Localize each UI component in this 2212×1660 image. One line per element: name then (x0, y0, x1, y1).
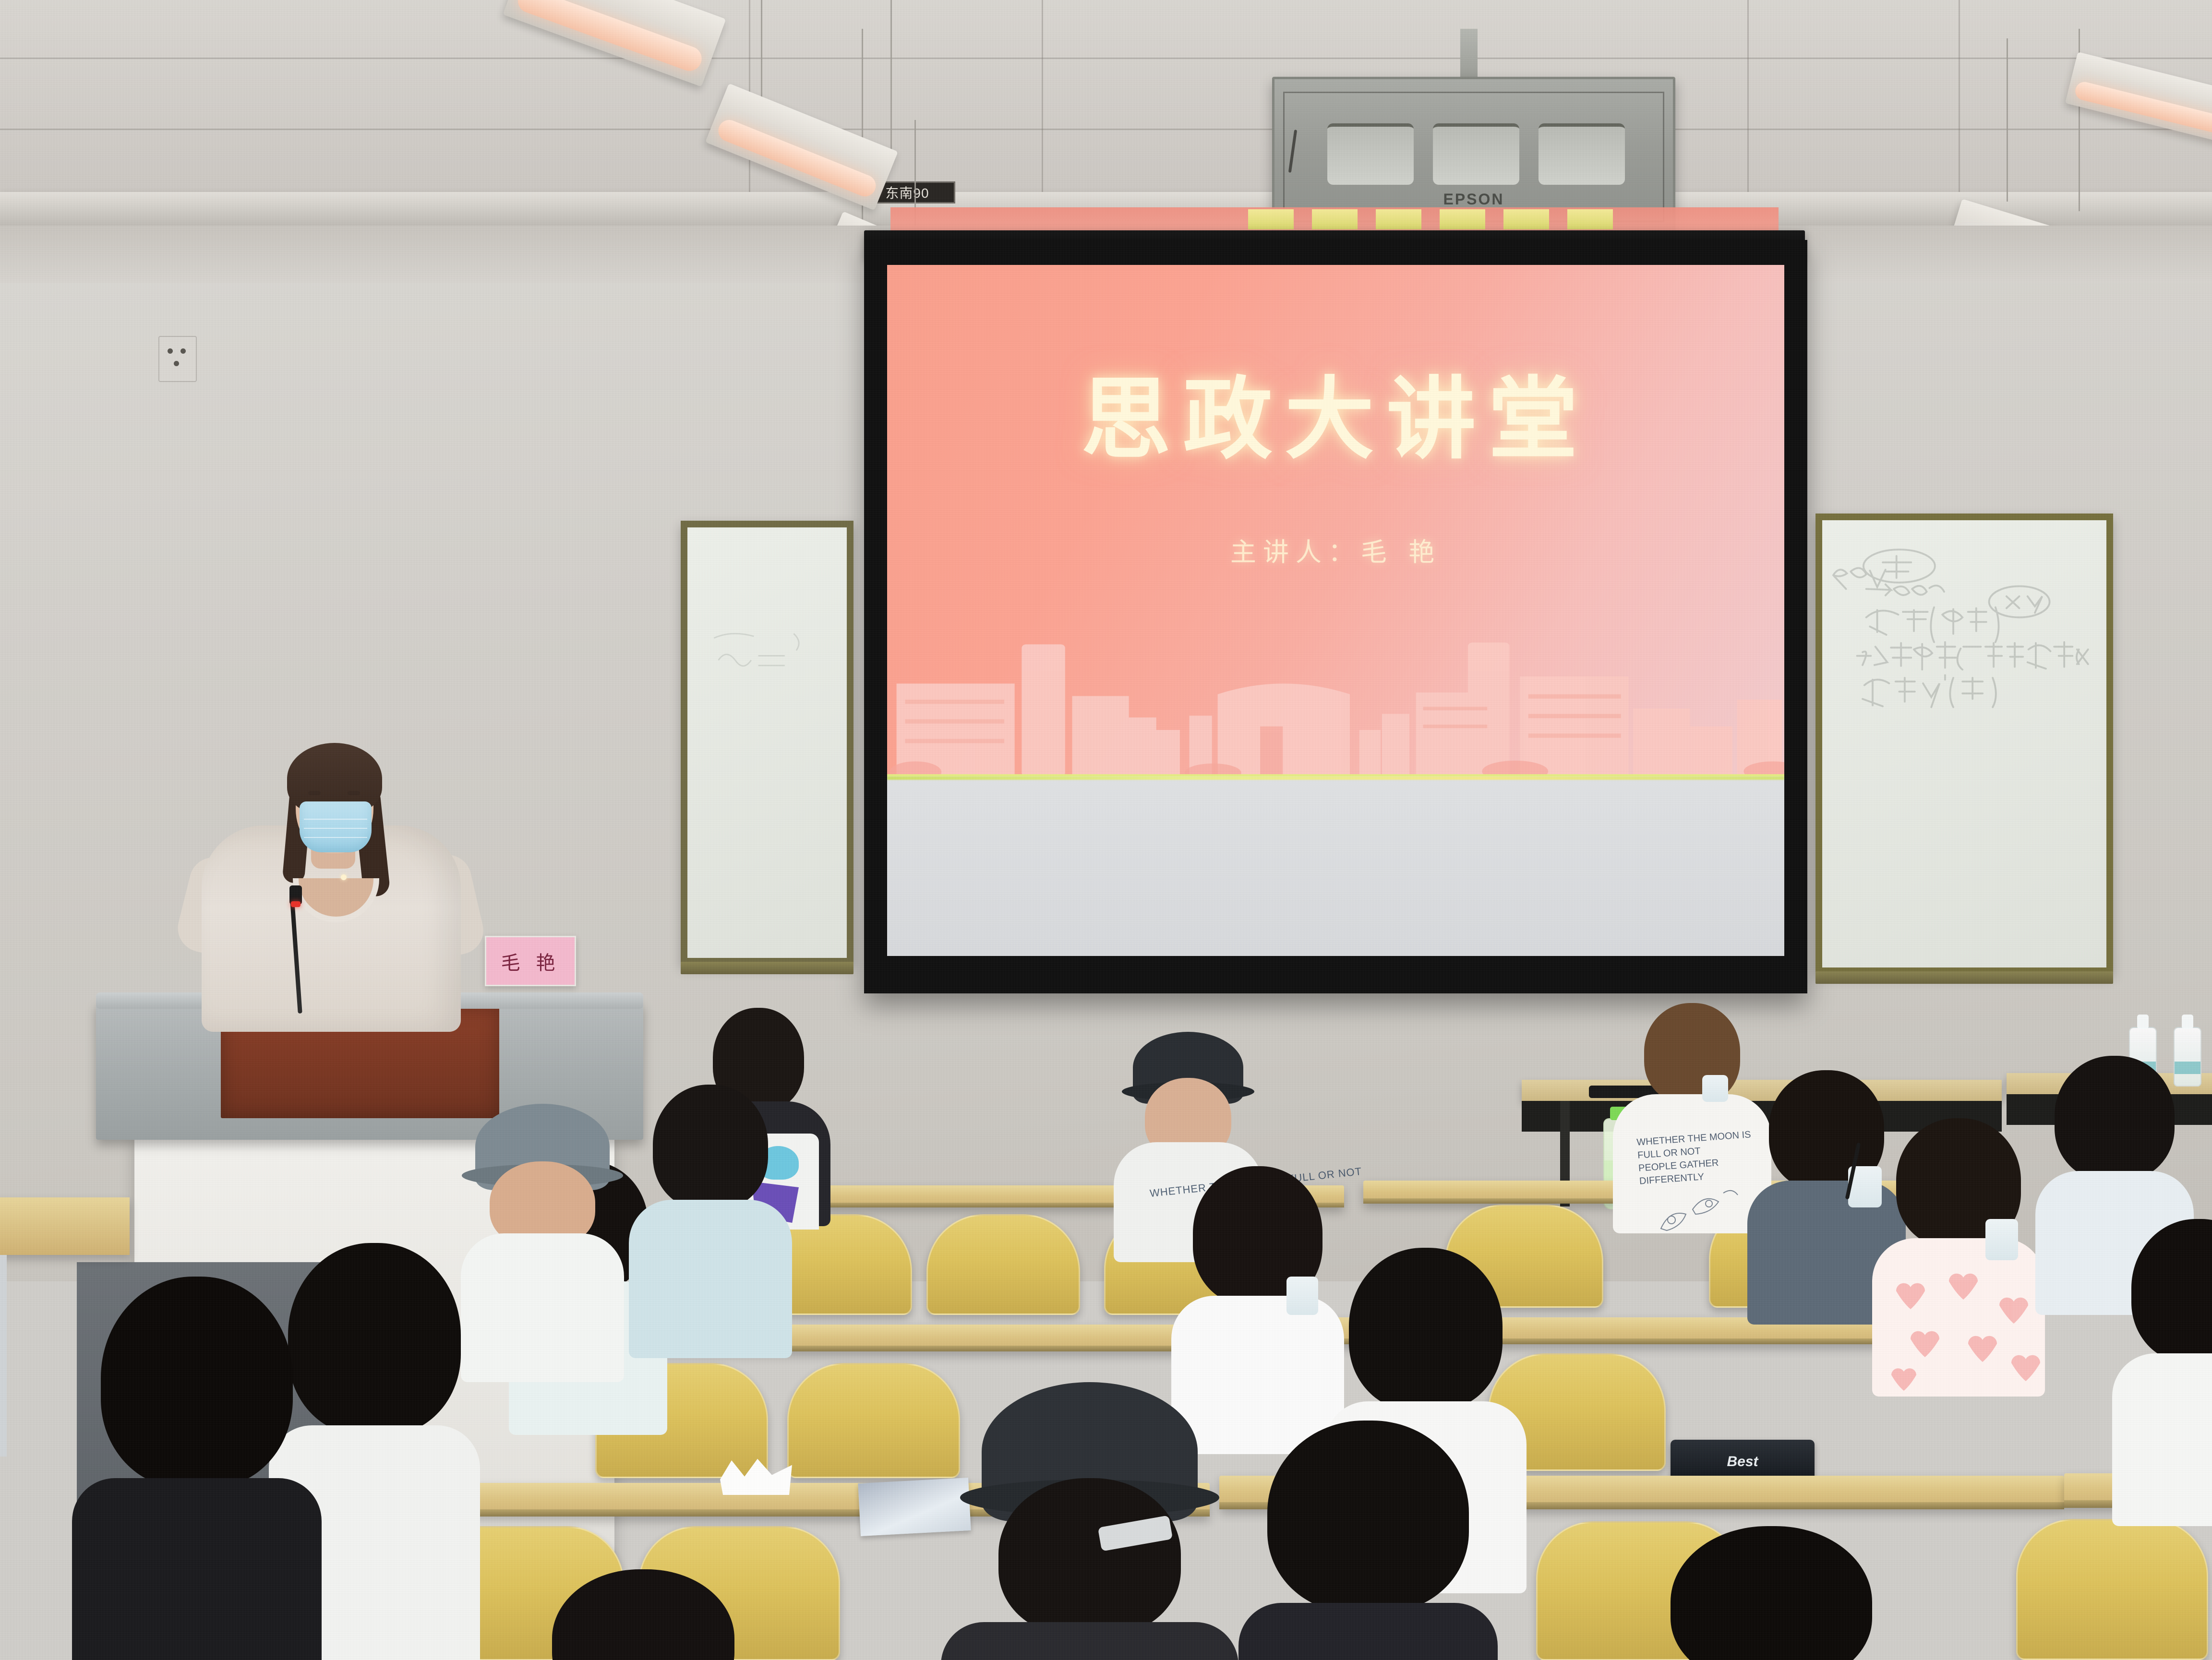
student-head (552, 1569, 734, 1660)
microphone-indicator-led (291, 901, 301, 907)
student-head (101, 1277, 293, 1488)
wall-power-outlet[interactable] (158, 336, 197, 382)
sanitizer-pump[interactable] (2137, 1015, 2149, 1029)
side-table-leg (0, 1255, 7, 1457)
whiteboard-left-tray (681, 962, 854, 974)
ceiling-tile-line (1959, 0, 1960, 206)
student-head (998, 1478, 1181, 1636)
classroom-scene: 东南90 EPSON (0, 0, 2212, 1660)
whiteboard-right-surface (1822, 520, 2106, 967)
chair[interactable] (787, 1363, 960, 1478)
projector-lens-slot (1433, 123, 1519, 185)
student (461, 1104, 624, 1373)
projector-brand-label: EPSON (1443, 191, 1504, 208)
whiteboard-right-tray (1815, 971, 2113, 984)
student-torso (1238, 1603, 1498, 1660)
side-table (0, 1197, 130, 1255)
student (1872, 1118, 2045, 1387)
whiteboard-right-handwriting (1822, 520, 2106, 960)
whiteboard-right (1815, 514, 2113, 974)
tissue-on-desk (720, 1457, 792, 1495)
projection-screen-surface: 思政大讲堂 主讲人：毛 艳 (887, 265, 1784, 956)
slide-canvas: 思政大讲堂 主讲人：毛 艳 (887, 265, 1784, 776)
slide-lower-panel (887, 776, 1784, 956)
student (941, 1382, 1238, 1660)
pencil-case-brand: Best (1727, 1454, 1758, 1470)
projection-spill-glyphs (1248, 209, 1613, 229)
sanitizer-pump[interactable] (2182, 1015, 2193, 1029)
slide-horizon-line (887, 776, 1784, 780)
slide-subtitle: 主讲人：毛 艳 (887, 531, 1784, 569)
face-mask (1985, 1219, 2018, 1260)
ceiling-sign-label: 东南90 (885, 183, 929, 202)
ceiling-tile-line (1042, 0, 1043, 197)
chair[interactable] (926, 1214, 1080, 1315)
student-torso (2112, 1353, 2212, 1526)
face-mask (1702, 1075, 1728, 1102)
whiteboard-left (681, 521, 854, 965)
ceiling-tile-line (0, 129, 2212, 130)
student (2112, 1219, 2212, 1517)
student (518, 1569, 768, 1660)
ceiling-tile-line (0, 58, 2212, 59)
student (629, 1085, 792, 1353)
student-head (1349, 1248, 1503, 1411)
student-torso (461, 1233, 624, 1382)
student-head (1267, 1421, 1469, 1612)
slide-cityscape-graphic (887, 623, 1784, 776)
shirt-heart-pattern (1877, 1262, 2045, 1392)
student (1238, 1421, 1498, 1660)
light-suspension-wire (2007, 38, 2008, 202)
whiteboard-left-surface (687, 527, 847, 958)
projector-vent-slot (1539, 123, 1625, 185)
presenter-eye (348, 791, 360, 795)
ceiling-tile-line (1747, 0, 1749, 202)
whiteboard-left-erased-marks (687, 527, 847, 937)
speaker-nameplate: 毛 艳 (485, 936, 576, 986)
student-head (2131, 1219, 2212, 1363)
student-head (1671, 1526, 1872, 1660)
student (1623, 1526, 1920, 1660)
presenter (202, 734, 461, 1032)
tshirt-paisley-graphic (1651, 1176, 1747, 1248)
projector-ceiling-mount (1460, 29, 1478, 79)
student-head (653, 1085, 768, 1209)
light-suspension-wire (890, 0, 892, 158)
projector-vent-slot (1327, 123, 1414, 185)
face-mask (1286, 1277, 1318, 1315)
presenter-necklace (341, 874, 347, 880)
student-head (2055, 1056, 2175, 1181)
projection-screen-frame: 思政大讲堂 主讲人：毛 艳 (864, 240, 1807, 993)
student-torso (941, 1622, 1238, 1660)
presenter-face-mask (300, 801, 372, 852)
slide-title: 思政大讲堂 (887, 346, 1784, 476)
presenter-eye (308, 791, 321, 795)
chair[interactable] (2016, 1519, 2208, 1660)
student-torso (72, 1478, 322, 1660)
student-torso (629, 1200, 792, 1358)
student (72, 1277, 322, 1660)
